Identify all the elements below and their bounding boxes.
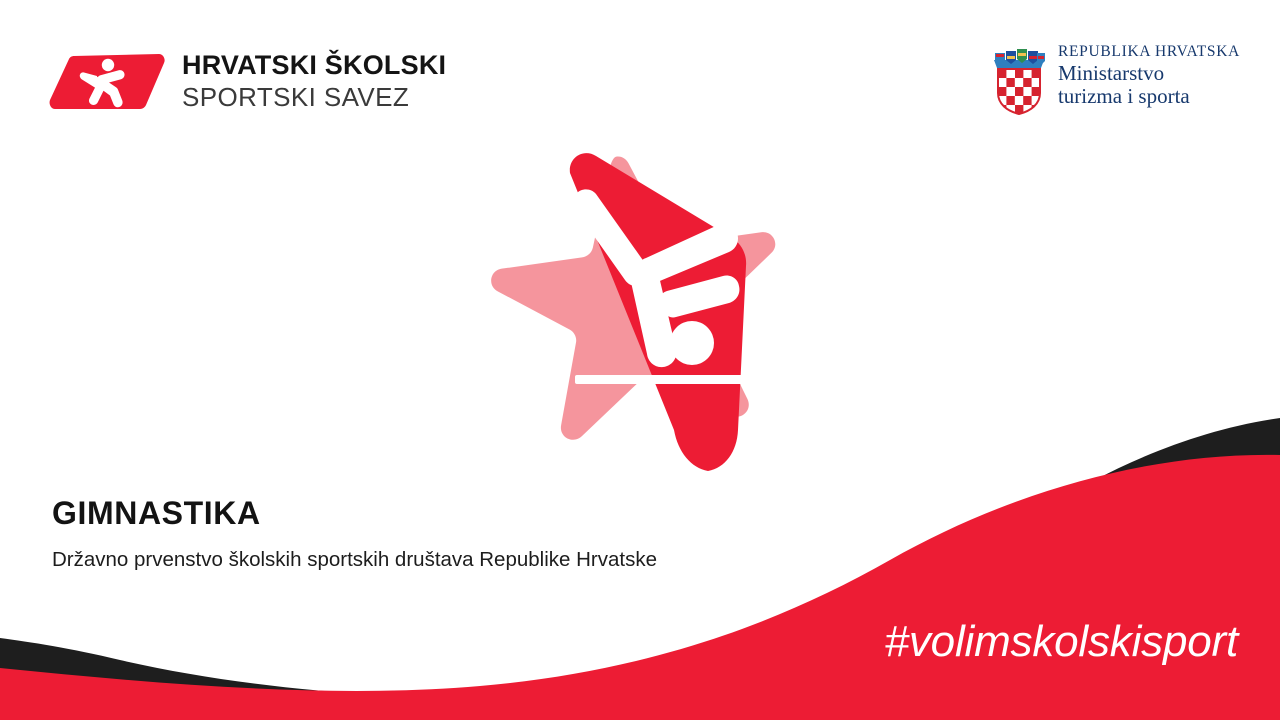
- coa-shield: [998, 69, 1040, 114]
- federation-logo: HRVATSKI ŠKOLSKI SPORTSKI SAVEZ: [48, 48, 446, 114]
- ministry-logo-text: REPUBLIKA HRVATSKA Ministarstvo turizma …: [1058, 44, 1240, 108]
- federation-name-line1: HRVATSKI ŠKOLSKI: [182, 52, 446, 79]
- federation-name-line2: SPORTSKI SAVEZ: [182, 84, 446, 110]
- gymnast-head: [670, 321, 714, 365]
- slide-canvas: HRVATSKI ŠKOLSKI SPORTSKI SAVEZ: [0, 0, 1280, 720]
- coa-crown: [994, 49, 1045, 68]
- hsss-runner-mark: [48, 48, 166, 114]
- federation-logo-text: HRVATSKI ŠKOLSKI SPORTSKI SAVEZ: [182, 52, 446, 110]
- ministry-logo: REPUBLIKA HRVATSKA Ministarstvo turizma …: [991, 44, 1240, 116]
- balance-beam-line: [575, 375, 755, 384]
- ministry-republic-line: REPUBLIKA HRVATSKA: [1058, 44, 1240, 61]
- croatian-coat-of-arms: [991, 44, 1047, 116]
- event-title: GIMNASTIKA: [52, 496, 657, 531]
- sport-emblem: [455, 130, 825, 490]
- ministry-name-line1: Ministarstvo: [1058, 62, 1240, 85]
- ministry-name-line2: turizma i sporta: [1058, 85, 1240, 108]
- title-block: GIMNASTIKA Državno prvenstvo školskih sp…: [52, 496, 657, 574]
- event-subtitle: Državno prvenstvo školskih sportskih dru…: [52, 545, 657, 574]
- campaign-hashtag: #volimskolskisport: [885, 617, 1238, 667]
